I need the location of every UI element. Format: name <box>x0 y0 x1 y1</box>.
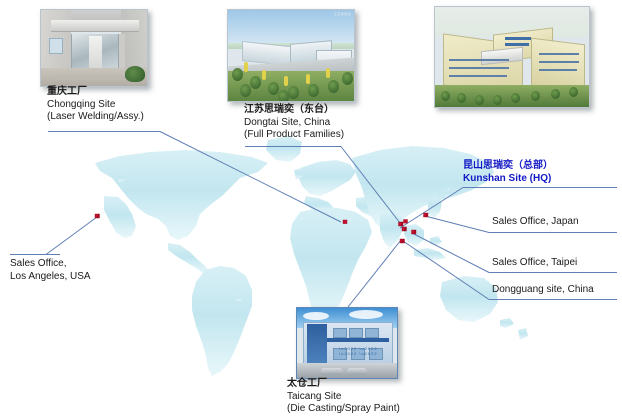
leader-dongtai <box>341 147 400 224</box>
chongqing-building-photo <box>40 9 148 87</box>
label-sales-office-los-angeles: Sales Office, Los Angeles, USA <box>10 258 91 283</box>
label-sales-office-taipei: Sales Office, Taipei <box>492 257 577 270</box>
leader-taicang <box>348 240 401 307</box>
label-taipei-text: Sales Office, Taipei <box>492 257 577 270</box>
leader-japan <box>425 216 489 233</box>
photo-watermark: 江苏思瑞奕 <box>334 12 351 16</box>
label-dongtai-cn: 江苏思瑞奕（东台） <box>244 104 344 117</box>
leader-dongguang <box>403 241 489 300</box>
label-dongtai-detail: (Full Product Families) <box>244 129 344 142</box>
label-la-line2: Los Angeles, USA <box>10 271 91 284</box>
label-taicang: 太仓工厂 Taicang Site (Die Casting/Spray Pai… <box>287 378 400 416</box>
label-japan-text: Sales Office, Japan <box>492 216 579 229</box>
label-taicang-detail: (Die Casting/Spray Paint) <box>287 403 400 416</box>
marker-dongtai <box>343 220 347 224</box>
label-dongtai-en: Dongtai Site, China <box>244 117 344 130</box>
label-kunshan-hq: 昆山思瑞奕（总部） Kunshan Site (HQ) <box>463 160 553 185</box>
leader-kunshan <box>400 188 463 229</box>
leader-chongqing <box>160 132 341 223</box>
label-taicang-cn: 太仓工厂 <box>287 378 400 391</box>
leader-taipei <box>412 233 489 273</box>
dongtai-campus-photo: 江苏思瑞奕 <box>227 9 355 102</box>
taicang-building-photo: \u2022 \u2022 \u2022 \u2022 <box>296 307 398 379</box>
label-chongqing-cn: 重庆工厂 <box>47 86 144 99</box>
label-sales-office-japan: Sales Office, Japan <box>492 216 579 229</box>
label-dongguang-text: Dongguang site, China <box>492 284 594 297</box>
label-chongqing-en: Chongqing Site <box>47 99 144 112</box>
marker-kunshan-b <box>404 220 408 224</box>
label-dongtai: 江苏思瑞奕（东台） Dongtai Site, China (Full Prod… <box>244 104 344 142</box>
label-taicang-en: Taicang Site <box>287 391 400 404</box>
slide-canvas: 江苏思瑞奕 \u2022 <box>0 0 622 418</box>
kunshan-hq-photo <box>434 6 590 108</box>
label-chongqing-detail: (Laser Welding/Assy.) <box>47 111 144 124</box>
site-markers <box>95 213 428 243</box>
leader-la <box>46 217 97 255</box>
label-kunshan-cn: 昆山思瑞奕（总部） <box>463 160 553 173</box>
label-la-line1: Sales Office, <box>10 258 91 271</box>
label-chongqing: 重庆工厂 Chongqing Site (Laser Welding/Assy.… <box>47 86 144 124</box>
label-dongguang-site: Dongguang site, China <box>492 284 594 297</box>
label-kunshan-en: Kunshan Site (HQ) <box>463 173 553 186</box>
